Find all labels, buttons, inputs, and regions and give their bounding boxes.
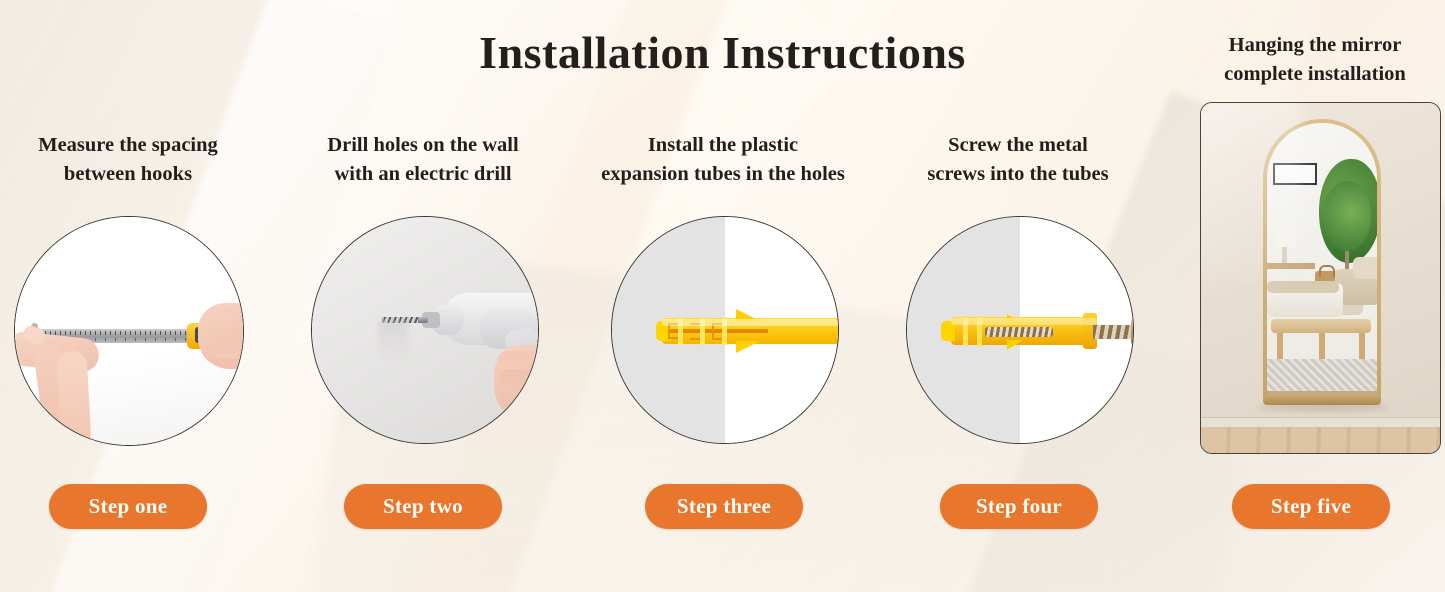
step-button-1[interactable]: Step one (49, 484, 207, 529)
step-caption-3-line1: Install the plastic (648, 134, 798, 156)
step-caption-1-line2: between hooks (64, 163, 192, 185)
installation-instructions-page: Installation Instructions Measure the sp… (0, 0, 1445, 592)
step-caption-5-line1: Hanging the mirror (1229, 34, 1402, 56)
step-caption-1: Measure the spacing between hooks (0, 131, 256, 189)
step-button-3[interactable]: Step three (645, 484, 803, 529)
step-caption-3: Install the plastic expansion tubes in t… (565, 131, 881, 189)
step-caption-4-line2: screws into the tubes (927, 163, 1108, 185)
step-image-4 (906, 216, 1134, 444)
step-button-2[interactable]: Step two (344, 484, 502, 529)
step-image-3 (611, 216, 839, 444)
step-button-4[interactable]: Step four (940, 484, 1098, 529)
step-caption-5: Hanging the mirror complete installation (1185, 31, 1445, 89)
step-caption-2-line2: with an electric drill (334, 163, 511, 185)
step-caption-4-line1: Screw the metal (948, 134, 1088, 156)
step-caption-1-line1: Measure the spacing (38, 134, 218, 156)
step-image-2 (311, 216, 539, 444)
step-button-5[interactable]: Step five (1232, 484, 1390, 529)
step-caption-3-line2: expansion tubes in the holes (601, 163, 845, 185)
step-image-1 (14, 216, 244, 446)
step-image-5 (1200, 102, 1441, 454)
step-caption-2-line1: Drill holes on the wall (327, 134, 518, 156)
step-caption-5-line2: complete installation (1224, 63, 1406, 85)
step-caption-4: Screw the metal screws into the tubes (897, 131, 1139, 189)
step-caption-2: Drill holes on the wall with an electric… (277, 131, 569, 189)
